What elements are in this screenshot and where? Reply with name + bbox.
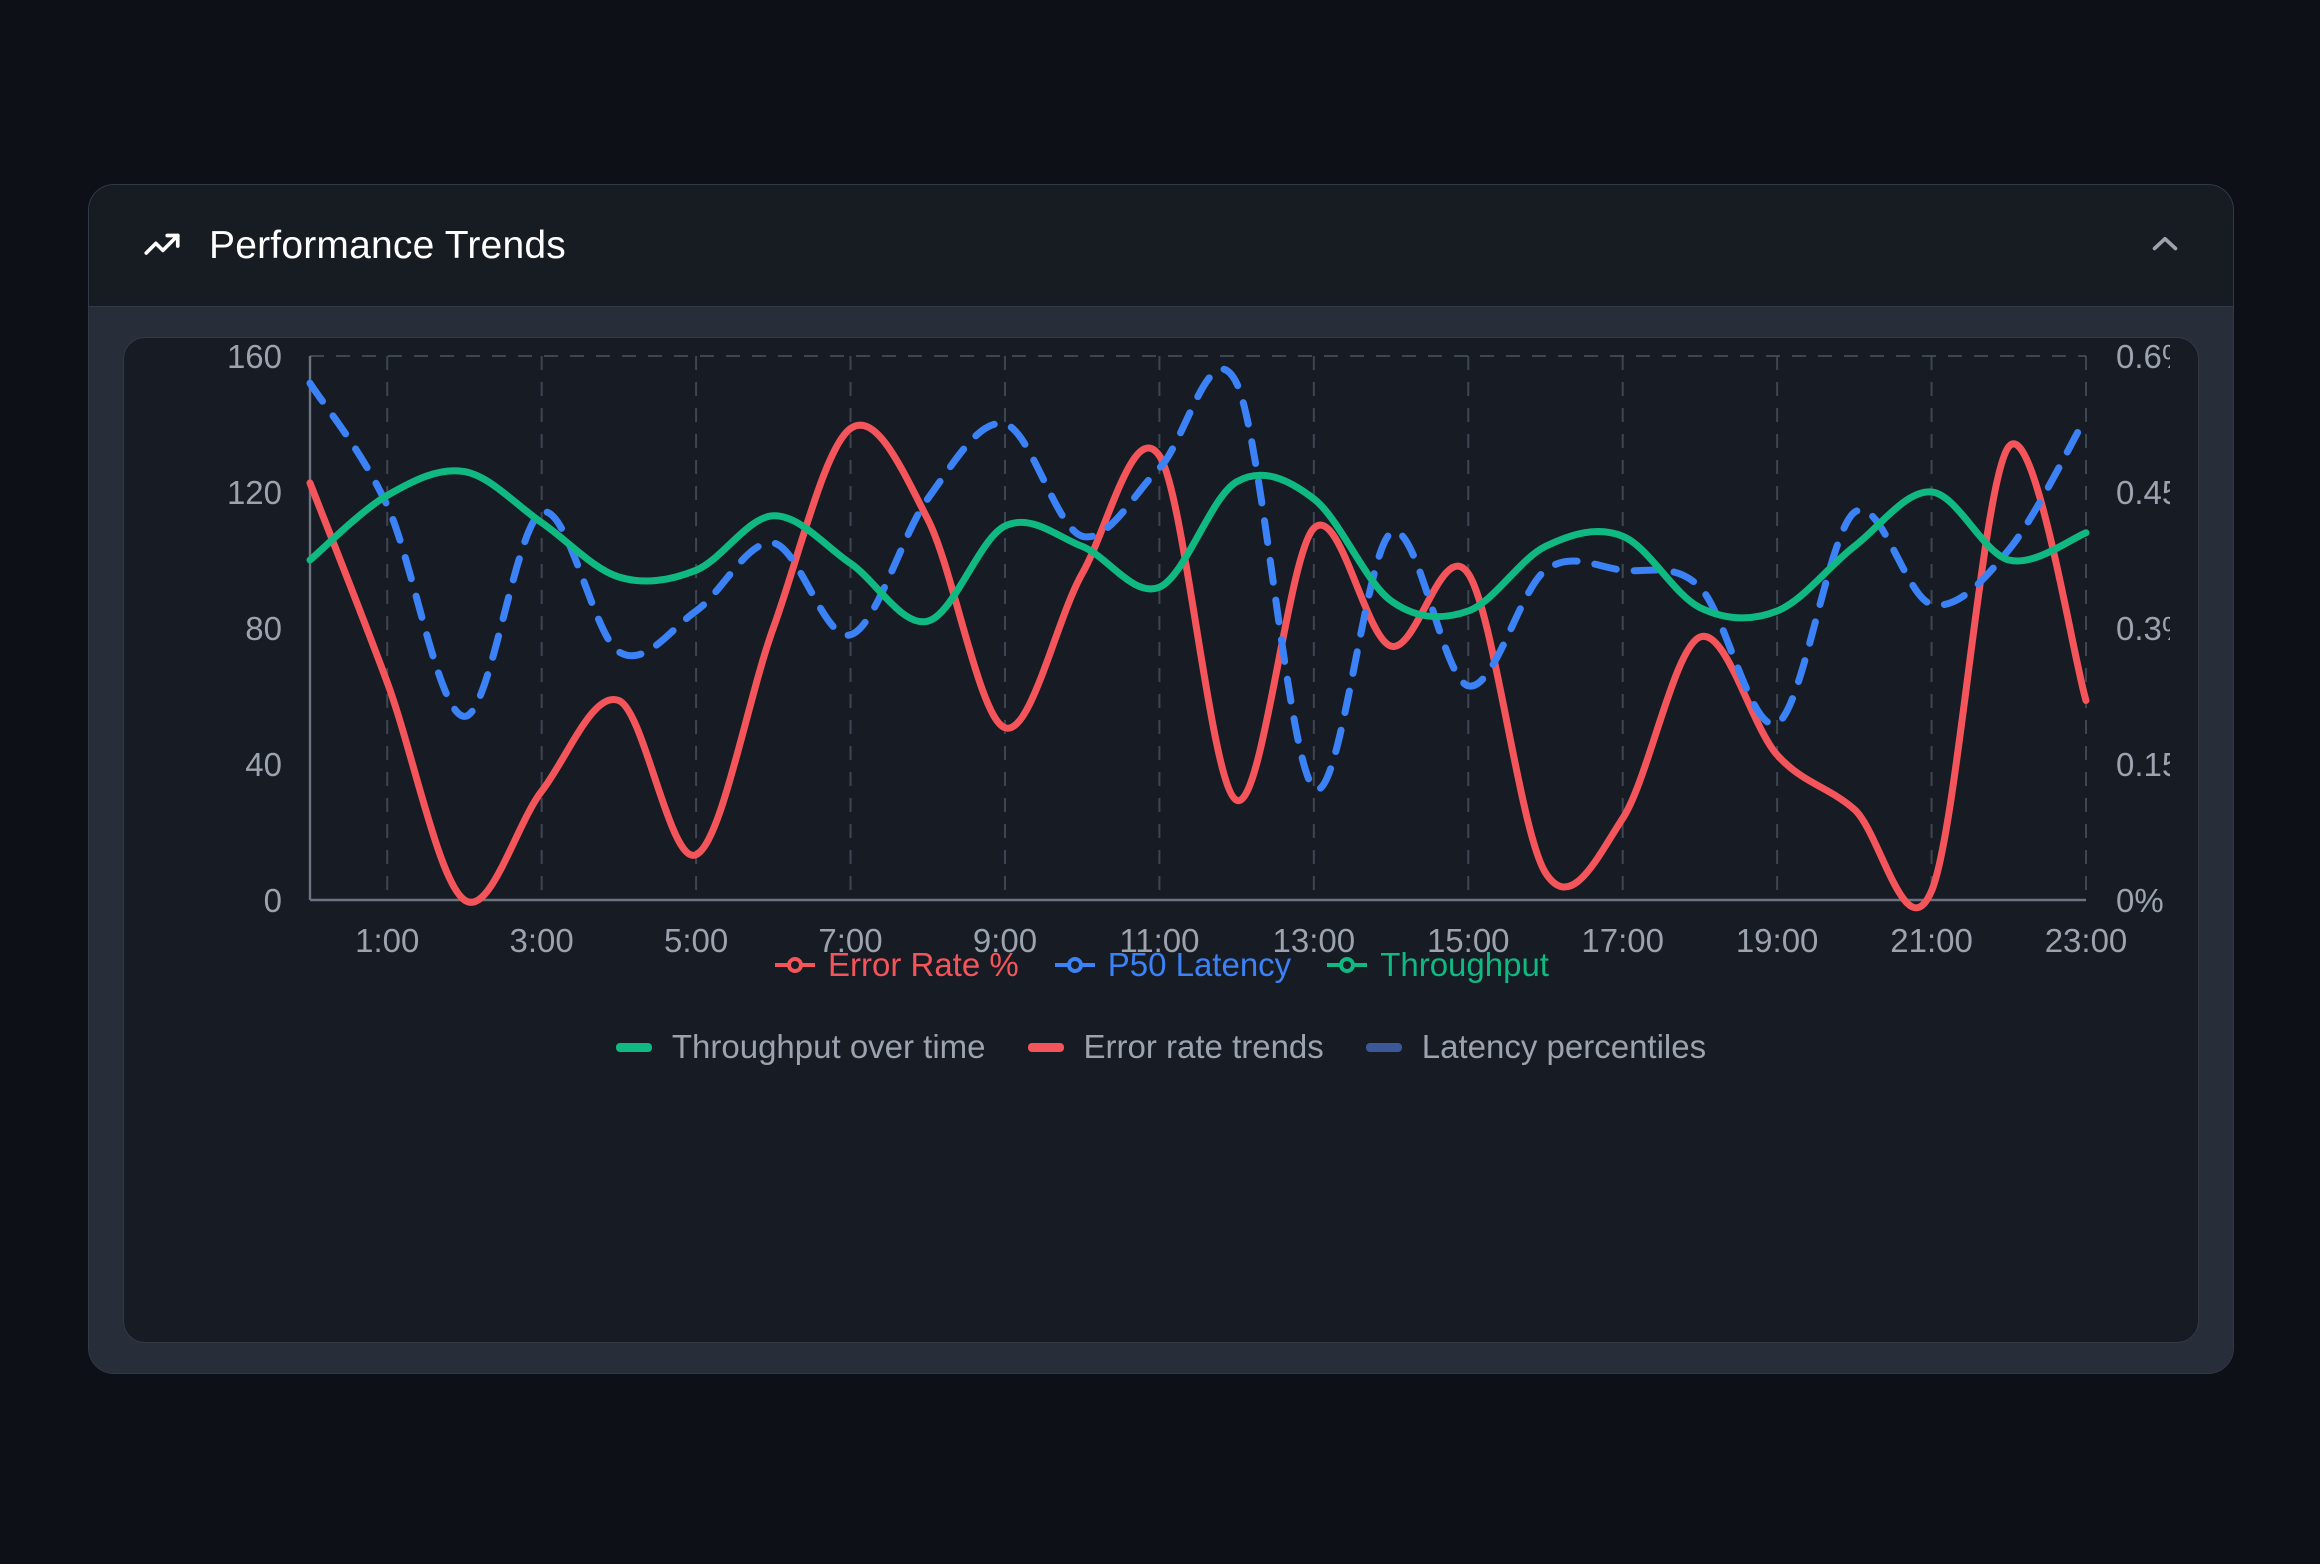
- trending-up-icon: [141, 225, 183, 267]
- chevron-up-icon: [2147, 226, 2183, 265]
- sub-legend-item: Error rate trends: [1028, 1028, 1324, 1066]
- sub-legend-label: Latency percentiles: [1422, 1028, 1706, 1066]
- legend-item[interactable]: Error Rate %: [773, 946, 1019, 984]
- sub-legend-item: Throughput over time: [616, 1028, 986, 1066]
- legend-item-label: Error Rate %: [828, 946, 1019, 984]
- series-line: [310, 425, 2086, 908]
- chart-sub-legend: Throughput over timeError rate trendsLat…: [124, 1028, 2198, 1066]
- svg-text:0.45%: 0.45%: [2116, 474, 2170, 511]
- chart-legend: Error Rate %P50 LatencyThroughput: [124, 946, 2198, 984]
- card-header: Performance Trends: [89, 185, 2233, 307]
- page-root: Performance Trends 040801201600%0.15: [0, 0, 2320, 1564]
- svg-text:0.15%: 0.15%: [2116, 746, 2170, 783]
- line-dot-marker-icon: [1325, 954, 1369, 976]
- sub-legend-item: Latency percentiles: [1366, 1028, 1706, 1066]
- svg-text:0: 0: [264, 882, 282, 919]
- svg-text:0%: 0%: [2116, 882, 2164, 919]
- page-title: Performance Trends: [209, 224, 566, 268]
- svg-text:120: 120: [227, 474, 282, 511]
- legend-item-label: P50 Latency: [1108, 946, 1291, 984]
- performance-chart: 040801201600%0.15%0.3%0.45%0.6%1:003:005…: [124, 338, 2170, 1340]
- sub-legend-swatch: [616, 1043, 652, 1052]
- collapse-toggle-button[interactable]: [2137, 218, 2193, 274]
- card-body: 040801201600%0.15%0.3%0.45%0.6%1:003:005…: [89, 307, 2233, 1373]
- svg-text:160: 160: [227, 338, 282, 375]
- sub-legend-label: Throughput over time: [672, 1028, 986, 1066]
- svg-text:40: 40: [245, 746, 282, 783]
- legend-item[interactable]: P50 Latency: [1053, 946, 1291, 984]
- performance-trends-card: Performance Trends 040801201600%0.15: [88, 184, 2234, 1374]
- chart-svg: 040801201600%0.15%0.3%0.45%0.6%1:003:005…: [124, 338, 2170, 1340]
- sub-legend-swatch: [1028, 1043, 1064, 1052]
- series-layer: [310, 369, 2086, 908]
- sub-legend-swatch: [1366, 1043, 1402, 1052]
- svg-text:0.3%: 0.3%: [2116, 610, 2170, 647]
- chart-panel: 040801201600%0.15%0.3%0.45%0.6%1:003:005…: [123, 337, 2199, 1343]
- line-dot-marker-icon: [1053, 954, 1097, 976]
- card-header-left: Performance Trends: [141, 224, 566, 268]
- legend-item-label: Throughput: [1380, 946, 1549, 984]
- svg-text:0.6%: 0.6%: [2116, 338, 2170, 375]
- sub-legend-label: Error rate trends: [1084, 1028, 1324, 1066]
- line-dot-marker-icon: [773, 954, 817, 976]
- legend-item[interactable]: Throughput: [1325, 946, 1549, 984]
- svg-text:80: 80: [245, 610, 282, 647]
